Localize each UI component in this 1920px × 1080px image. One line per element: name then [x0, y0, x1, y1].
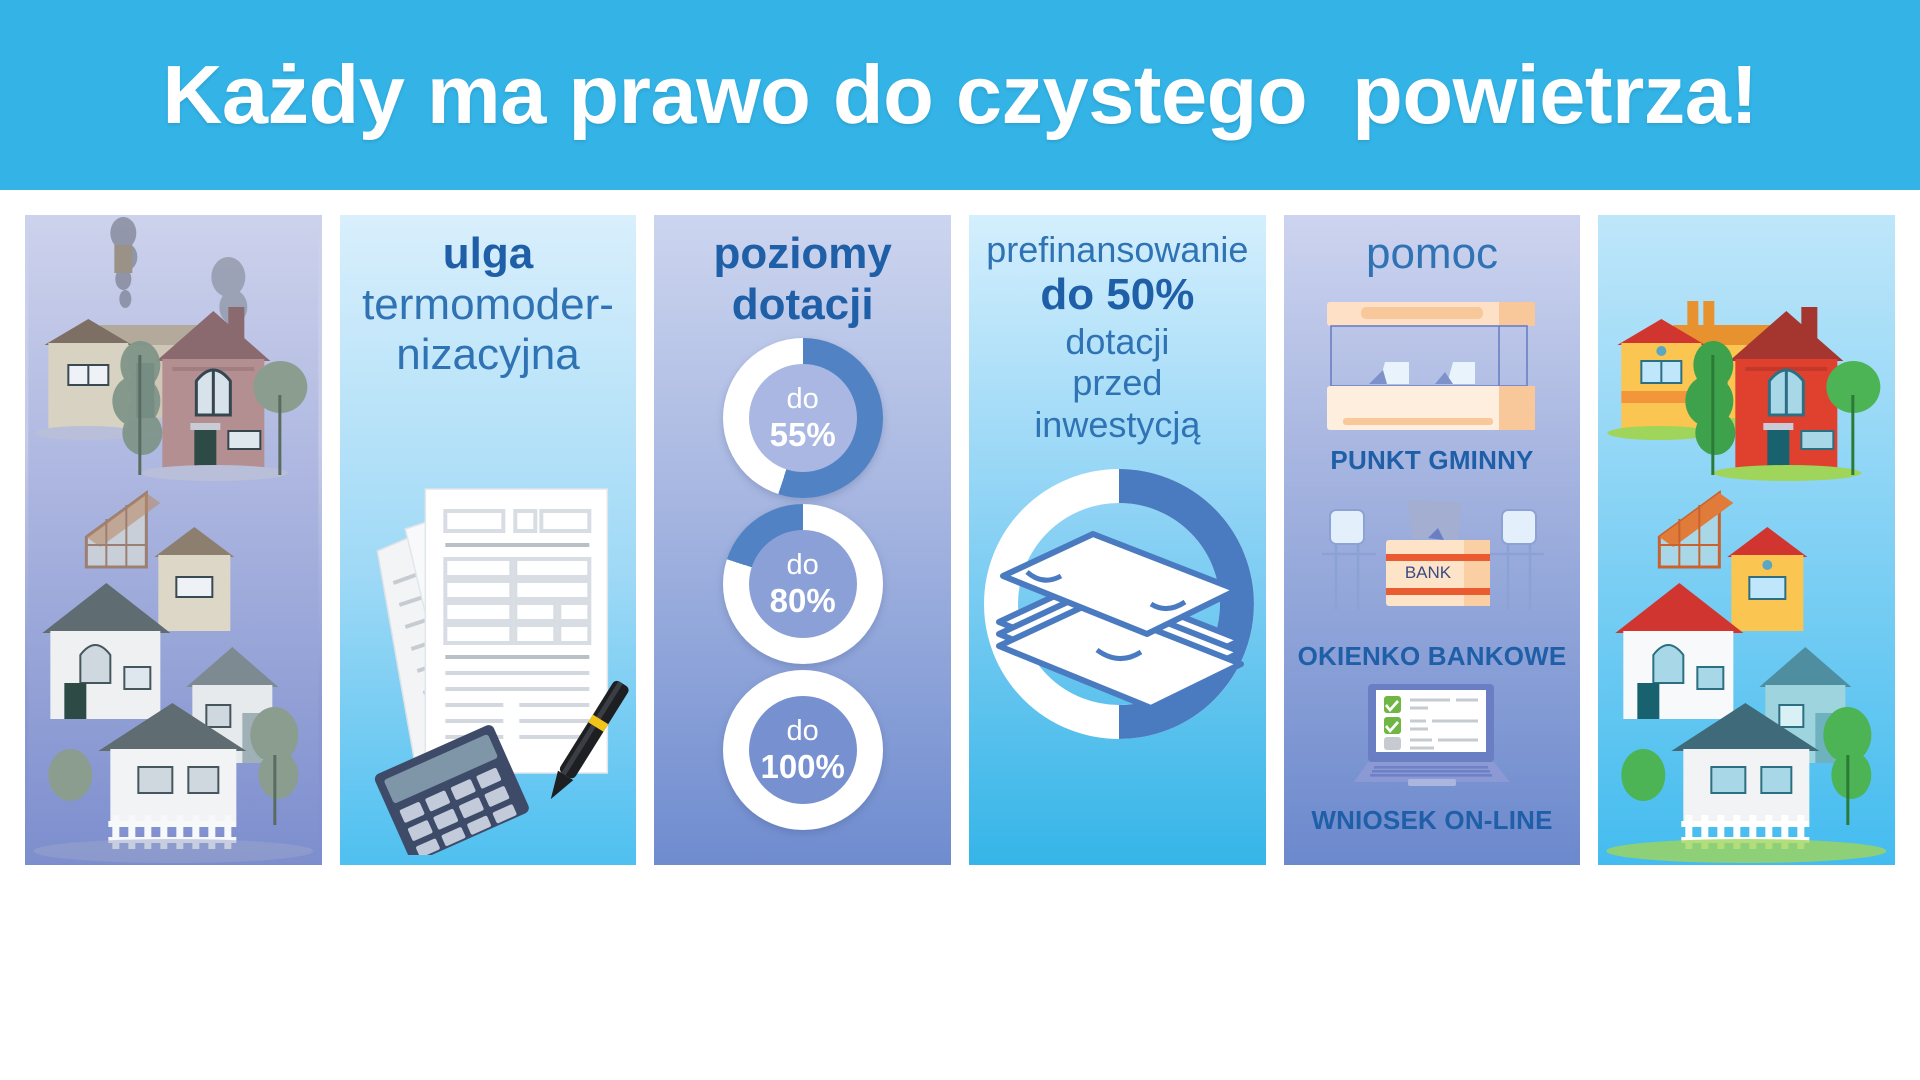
panel-pref-line-3: dotacji [969, 321, 1266, 362]
donut-80-value: 80% [770, 584, 836, 617]
donut-100: do 100% [723, 670, 883, 830]
page-header: Każdy ma prawo do czystego powietrza! [0, 0, 1920, 190]
svg-text:BANK: BANK [1405, 563, 1452, 582]
panel-poziomy-title: poziomy dotacji [654, 215, 951, 330]
polluted-houses-icon [25, 215, 322, 865]
panel-pomoc-title: pomoc [1284, 215, 1581, 280]
panel-clean-houses [1598, 215, 1895, 865]
donut-55-center: do 55% [749, 364, 857, 472]
panel-poziomy-dotacji: poziomy dotacji do 55% do 80% do 100% [654, 215, 951, 865]
donut-80: do 80% [723, 504, 883, 664]
donut-100-value: 100% [760, 750, 844, 783]
panel-strip: ulga termomoder- nizacyjna [0, 190, 1920, 880]
panel-prefinansowanie: prefinansowanie do 50% dotacji przed inw… [969, 215, 1266, 865]
panel-ulga-title-line-2: termomoder- [340, 280, 637, 331]
panel-poziomy-title-line-2: dotacji [654, 280, 951, 331]
donut-55: do 55% [723, 338, 883, 498]
panel-pref-line-4: przed [969, 362, 1266, 403]
panel-poziomy-title-line-1: poziomy [654, 229, 951, 280]
documents-calculator-pen-icon [340, 455, 637, 855]
donut-chart-group: do 55% do 80% do 100% [654, 338, 951, 830]
panel-ulga-title-line-1: ulga [340, 229, 637, 280]
panel-pref-line-5: inwestycją [969, 404, 1266, 445]
pomoc-label-okienko-bankowe: OKIENKO BANKOWE [1284, 641, 1581, 672]
pomoc-label-wniosek-online: WNIOSEK ON-LINE [1284, 805, 1581, 836]
pomoc-item-okienko-bankowe: BANK OKIENKO BANKOWE [1284, 484, 1581, 672]
money-badge [969, 459, 1266, 749]
bank-counter-icon: BANK [1312, 484, 1552, 634]
laptop-checklist-icon [1322, 678, 1542, 798]
footer: KRAJOWY PLAN ODBUDOWY Rzeczpospolita Pol… [0, 880, 1920, 1080]
donut-80-center: do 80% [749, 530, 857, 638]
panel-pref-line-1: prefinansowanie [969, 229, 1266, 270]
donut-100-prefix: do [787, 717, 819, 746]
panel-pomoc: pomoc PUNKT GMINNY [1284, 215, 1581, 865]
panel-pref-line-2: do 50% [969, 270, 1266, 321]
pomoc-label-punkt-gminny: PUNKT GMINNY [1284, 445, 1581, 476]
panel-ulga-title-line-3: nizacyjna [340, 330, 637, 381]
colorful-clean-houses-icon [1598, 215, 1895, 865]
service-desk-icon [1317, 288, 1547, 438]
panel-smog-houses [25, 215, 322, 865]
donut-80-prefix: do [787, 551, 819, 580]
pomoc-item-punkt-gminny: PUNKT GMINNY [1284, 288, 1581, 476]
pomoc-item-wniosek-online: WNIOSEK ON-LINE [1284, 678, 1581, 836]
donut-55-prefix: do [787, 385, 819, 414]
donut-100-center: do 100% [749, 696, 857, 804]
money-stack-icon [969, 454, 1266, 754]
panel-prefinansowanie-title: prefinansowanie do 50% dotacji przed inw… [969, 215, 1266, 445]
panel-ulga-termomodernizacyjna: ulga termomoder- nizacyjna [340, 215, 637, 865]
panel-pomoc-title-line-1: pomoc [1284, 229, 1581, 280]
panel-ulga-title: ulga termomoder- nizacyjna [340, 215, 637, 381]
donut-55-value: 55% [770, 418, 836, 451]
page-title: Każdy ma prawo do czystego powietrza! [162, 47, 1757, 143]
